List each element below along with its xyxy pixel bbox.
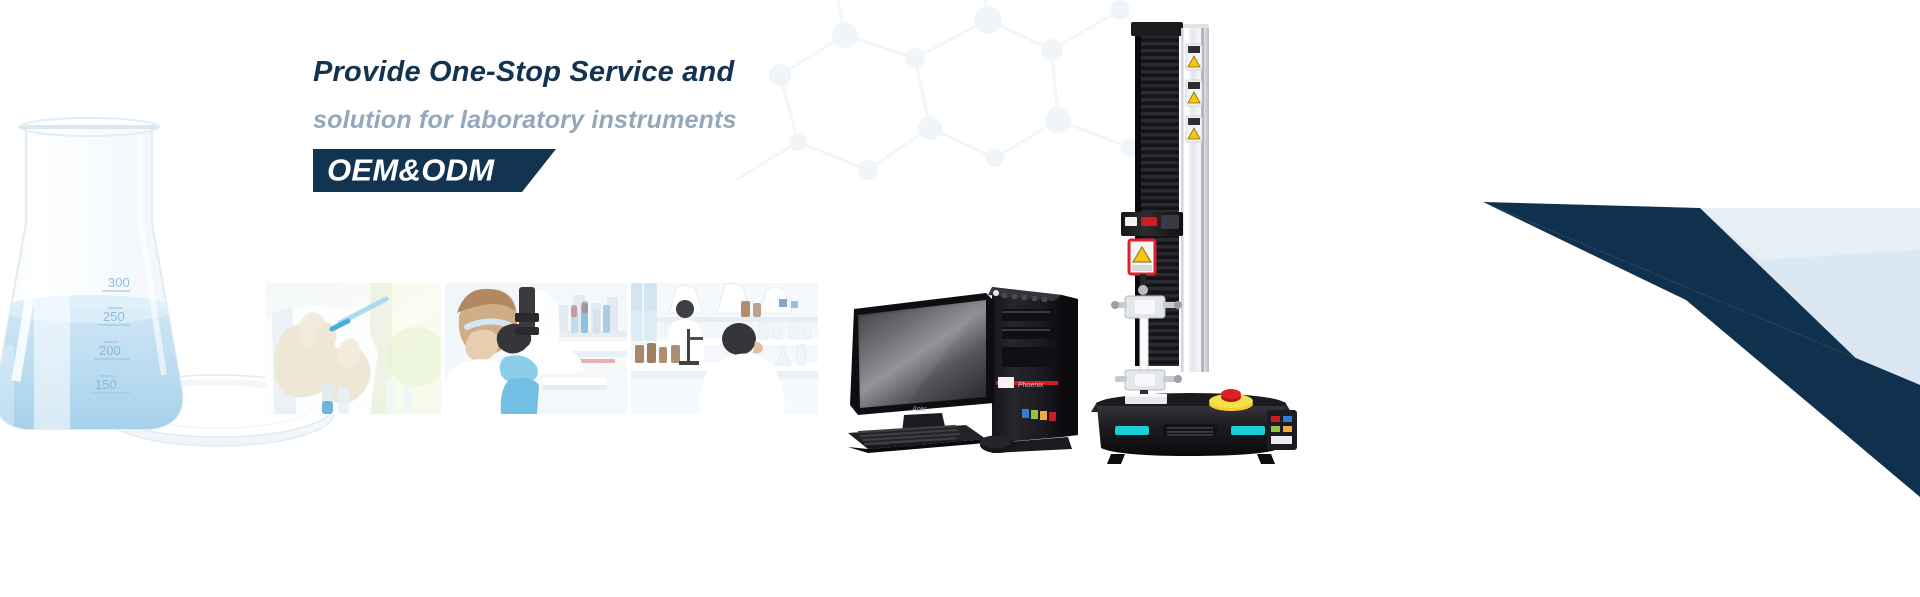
svg-text:Phoenix: Phoenix — [1018, 382, 1044, 389]
cyan-accent-right — [1231, 426, 1265, 435]
emergency-stop-button — [1209, 389, 1253, 411]
universal-tensile-testing-machine — [1085, 14, 1305, 454]
desktop-computer-with-monitor: Phoenix Acer — [846, 285, 1076, 455]
machine-base — [1091, 393, 1297, 464]
promo-banner: 300 250 200 150 Provide One-Stop Service… — [0, 0, 1920, 597]
monitor: Acer — [850, 293, 994, 441]
tower-case: Phoenix — [988, 287, 1078, 453]
specimen-platform — [1125, 394, 1167, 404]
svg-text:Acer: Acer — [911, 406, 927, 413]
crosshead — [1121, 212, 1183, 236]
keyboard — [848, 425, 986, 453]
cyan-accent-left — [1115, 426, 1149, 435]
warning-plate — [1129, 240, 1155, 274]
warning-labels — [1186, 44, 1202, 142]
